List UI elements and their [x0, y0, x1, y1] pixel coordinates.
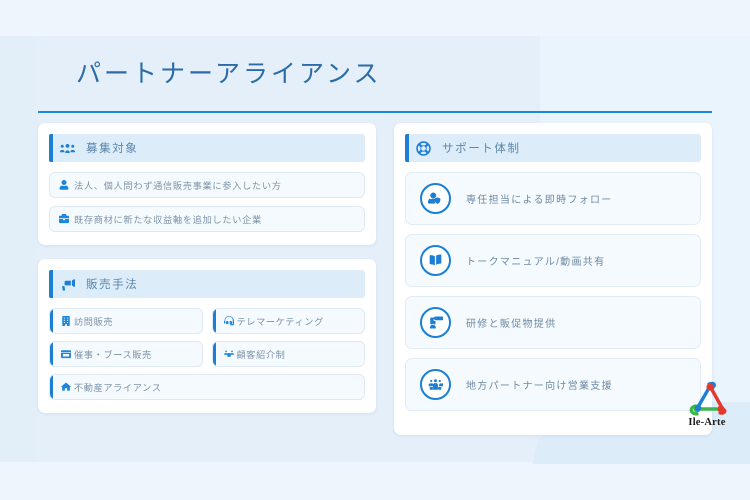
list-item[interactable]: 既存商材に新たな収益軸を追加したい企業	[49, 206, 365, 232]
list-item-label: 催事・ブース販売	[74, 347, 152, 361]
list-item-label: 訪問販売	[74, 314, 113, 328]
card-recruitment-target: 募集対象 法人、個人問わず通信販売事業に参入したい方	[38, 123, 376, 245]
user-shield-icon	[420, 183, 451, 214]
building-icon	[61, 316, 71, 326]
list-item-label: 研修と販促物提供	[466, 315, 556, 330]
briefcase-icon	[59, 214, 69, 224]
support-system-list: 専任担当による即時フォロー トークマニュアル/動画共有	[405, 172, 701, 411]
list-item[interactable]: 催事・ブース販売	[49, 341, 203, 367]
card-header-label: 募集対象	[86, 140, 138, 156]
headset-icon	[224, 316, 234, 326]
people-handshake-icon	[224, 349, 234, 359]
chalkboard-teacher-icon	[420, 307, 451, 338]
list-item[interactable]: 研修と販促物提供	[405, 296, 701, 349]
users-icon	[60, 141, 75, 156]
user-icon	[59, 180, 69, 190]
card-header-recruitment-target: 募集対象	[49, 134, 365, 162]
home-icon	[61, 382, 71, 392]
background-top-band	[0, 0, 750, 36]
list-item-label: 既存商材に新たな収益軸を追加したい企業	[74, 212, 262, 226]
page-title: パートナーアライアンス	[38, 58, 712, 92]
list-item[interactable]: 訪問販売	[49, 308, 203, 334]
card-header-support-system: サポート体制	[405, 134, 701, 162]
list-item-label: トークマニュアル/動画共有	[466, 253, 605, 268]
list-item-label: テレマーケティング	[237, 314, 324, 328]
card-support-system: サポート体制 専任担当による即時フォロー	[394, 123, 712, 435]
page-title-wrap: パートナーアライアンス	[38, 58, 712, 92]
card-header-label: サポート体制	[442, 140, 521, 156]
list-item-label: 地方パートナー向け営業支援	[466, 377, 613, 392]
card-header-sales-methods: 販売手法	[49, 270, 365, 298]
list-item-label: 専任担当による即時フォロー	[466, 191, 613, 206]
store-icon	[61, 349, 71, 359]
right-column: サポート体制 専任担当による即時フォロー	[394, 123, 712, 435]
list-item-label: 顧客紹介制	[237, 347, 286, 361]
lifebuoy-icon	[416, 141, 431, 156]
list-item[interactable]: 顧客紹介制	[212, 341, 366, 367]
content-columns: 募集対象 法人、個人問わず通信販売事業に参入したい方	[38, 123, 712, 435]
card-sales-methods: 販売手法 訪問販売	[38, 259, 376, 413]
bullhorn-icon	[60, 277, 75, 292]
brand-logo-text: Ile-Arte	[676, 417, 738, 428]
list-item[interactable]: テレマーケティング	[212, 308, 366, 334]
list-item[interactable]: 地方パートナー向け営業支援	[405, 358, 701, 411]
list-item[interactable]: 不動産アライアンス	[49, 374, 365, 400]
list-item-label: 不動産アライアンス	[74, 380, 162, 394]
card-header-label: 販売手法	[86, 276, 138, 292]
background-bottom-band	[0, 462, 750, 500]
background-left-edge	[0, 36, 36, 462]
recruitment-target-list: 法人、個人問わず通信販売事業に参入したい方 既存商材に新たな収益軸を追加したい企…	[49, 172, 365, 232]
triangle-nodes-icon	[676, 380, 738, 420]
map-people-icon	[420, 369, 451, 400]
list-item[interactable]: トークマニュアル/動画共有	[405, 234, 701, 287]
left-column: 募集対象 法人、個人問わず通信販売事業に参入したい方	[38, 123, 376, 435]
slide-canvas: パートナーアライアンス 募集対象	[0, 0, 750, 500]
list-item[interactable]: 専任担当による即時フォロー	[405, 172, 701, 225]
list-item-label: 法人、個人問わず通信販売事業に参入したい方	[74, 178, 282, 192]
brand-logo: Ile-Arte	[676, 380, 738, 428]
book-open-icon	[420, 245, 451, 276]
title-divider	[38, 111, 712, 113]
sales-methods-grid: 訪問販売 テレマーケティング	[49, 308, 365, 400]
list-item[interactable]: 法人、個人問わず通信販売事業に参入したい方	[49, 172, 365, 198]
